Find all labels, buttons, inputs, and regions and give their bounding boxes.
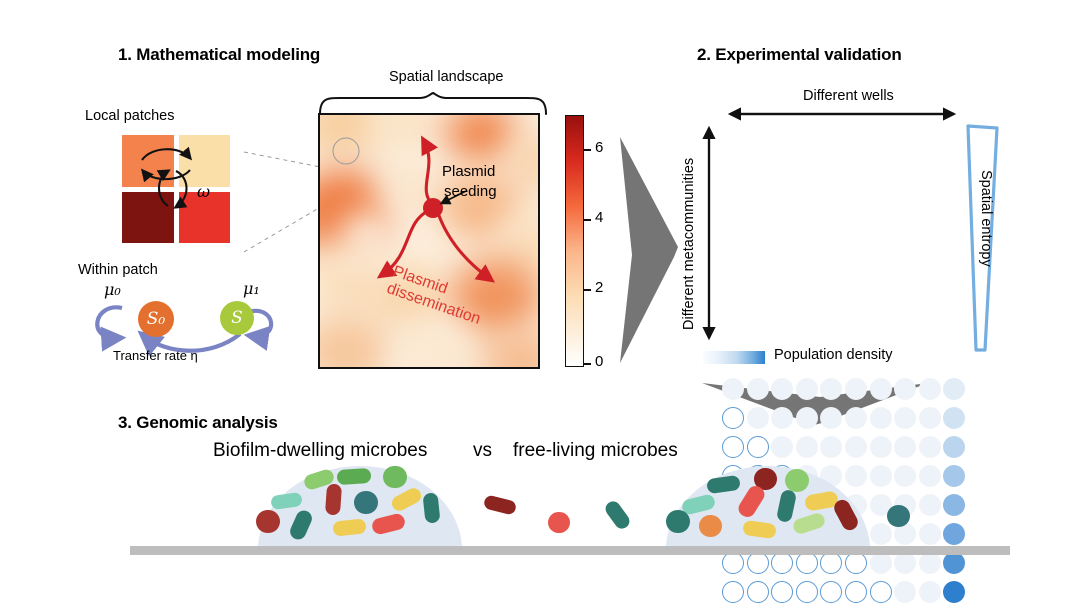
well[interactable] (796, 552, 818, 574)
colorbar-tick-label-2: 2 (595, 279, 603, 296)
well[interactable] (722, 581, 744, 603)
biofilm-right-microbes (666, 466, 870, 550)
population-density-colorbar (703, 351, 765, 364)
well[interactable] (845, 552, 867, 574)
well[interactable] (845, 378, 867, 400)
well[interactable] (919, 436, 941, 458)
panel2-title: 2. Experimental validation (697, 45, 902, 65)
well[interactable] (943, 407, 965, 429)
well[interactable] (870, 436, 892, 458)
microbe-cell (785, 469, 809, 492)
well[interactable] (820, 436, 842, 458)
microbe-cell (483, 494, 517, 515)
panel3-caption-right: free-living microbes (513, 440, 678, 462)
node-s0-label: S₀ (147, 309, 165, 329)
microbe-cell (706, 475, 741, 494)
spatial-entropy-label: Spatial entropy (978, 170, 994, 267)
different-metacommunities-axis-arrow (702, 120, 716, 346)
spatial-landscape-heatmap: Plasmid seeding Plasmid dissemination (318, 113, 540, 369)
well[interactable] (747, 407, 769, 429)
well[interactable] (870, 552, 892, 574)
well[interactable] (771, 552, 793, 574)
well[interactable] (820, 552, 842, 574)
well[interactable] (894, 407, 916, 429)
microbe-cell (333, 518, 367, 536)
patch-exchange-arrows (112, 130, 242, 260)
panel3-caption-vs: vs (473, 440, 492, 462)
mu0-symbol-label: μ₀ (104, 280, 121, 299)
well[interactable] (771, 378, 793, 400)
microbe-cell (354, 491, 378, 514)
well[interactable] (747, 552, 769, 574)
well[interactable] (722, 436, 744, 458)
well[interactable] (894, 523, 916, 545)
microbe-cell (666, 510, 690, 533)
well[interactable] (820, 407, 842, 429)
well[interactable] (943, 552, 965, 574)
different-wells-axis-arrow (722, 107, 962, 121)
biofilm-left-microbes (258, 466, 462, 550)
well[interactable] (796, 378, 818, 400)
well[interactable] (747, 378, 769, 400)
well[interactable] (919, 552, 941, 574)
local-patches-label: Local patches (85, 108, 174, 124)
well[interactable] (771, 436, 793, 458)
well[interactable] (820, 581, 842, 603)
well[interactable] (870, 494, 892, 516)
microbe-cell (422, 492, 440, 523)
well[interactable] (870, 378, 892, 400)
microbe-cell (287, 508, 314, 542)
well[interactable] (722, 378, 744, 400)
transfer-rate-label: Transfer rate η (113, 348, 198, 363)
well[interactable] (747, 436, 769, 458)
well[interactable] (943, 436, 965, 458)
omega-symbol-label: ω (197, 182, 210, 201)
node-s: S (220, 301, 254, 335)
spatial-landscape-label: Spatial landscape (389, 69, 503, 85)
well[interactable] (870, 523, 892, 545)
well[interactable] (919, 494, 941, 516)
well[interactable] (943, 465, 965, 487)
plasmid-seeding-label-line1: Plasmid (442, 163, 495, 180)
microbe-cell (831, 497, 860, 533)
node-s0: S₀ (138, 301, 174, 337)
well[interactable] (919, 581, 941, 603)
well[interactable] (919, 407, 941, 429)
well[interactable] (894, 581, 916, 603)
panel3-caption-left: Biofilm-dwelling microbes (213, 440, 427, 462)
well[interactable] (919, 465, 941, 487)
well[interactable] (845, 436, 867, 458)
microbe-cell (603, 498, 633, 531)
microbe-cell (325, 484, 342, 516)
different-wells-label: Different wells (803, 88, 894, 104)
colorbar-tick-label-6: 6 (595, 139, 603, 156)
well[interactable] (894, 494, 916, 516)
microbe-cell (383, 466, 407, 488)
microbe-cell (776, 489, 797, 523)
mu1-symbol-label: μ₁ (243, 279, 260, 298)
colorbar-ticks: 6 4 2 0 (565, 115, 625, 367)
panel1-title: 1. Mathematical modeling (118, 45, 320, 65)
well[interactable] (919, 378, 941, 400)
microbe-cell (336, 468, 371, 485)
microbe-cell (256, 510, 280, 533)
well[interactable] (919, 523, 941, 545)
substrate-surface (130, 546, 1010, 555)
well[interactable] (845, 581, 867, 603)
well[interactable] (747, 581, 769, 603)
well[interactable] (796, 436, 818, 458)
population-density-label: Population density (774, 347, 893, 363)
colorbar-tick-label-0: 0 (595, 353, 603, 370)
arrow-to-experimental-validation (618, 135, 682, 365)
well[interactable] (943, 378, 965, 400)
well[interactable] (820, 378, 842, 400)
well[interactable] (771, 581, 793, 603)
colorbar-tick-label-4: 4 (595, 209, 603, 226)
within-patch-label: Within patch (78, 262, 158, 278)
node-s-label: S (231, 308, 243, 328)
well[interactable] (796, 581, 818, 603)
well[interactable] (943, 581, 965, 603)
microbe-cell (270, 492, 303, 510)
microbe-cell (791, 511, 826, 535)
well[interactable] (870, 581, 892, 603)
well[interactable] (894, 465, 916, 487)
well[interactable] (722, 407, 744, 429)
well[interactable] (943, 494, 965, 516)
well[interactable] (845, 407, 867, 429)
plasmid-seeding-label-line2: seeding (444, 183, 497, 200)
well[interactable] (943, 523, 965, 545)
microbe-cell (699, 515, 722, 537)
microbe-cell (390, 486, 424, 514)
panel3-title: 3. Genomic analysis (118, 413, 278, 433)
well[interactable] (796, 407, 818, 429)
well[interactable] (894, 378, 916, 400)
well[interactable] (870, 407, 892, 429)
microbe-cell (548, 512, 570, 533)
well[interactable] (894, 436, 916, 458)
well[interactable] (870, 465, 892, 487)
well[interactable] (894, 552, 916, 574)
different-metacommunities-label: Different metacommunities (681, 158, 697, 330)
well[interactable] (722, 552, 744, 574)
microbe-cell (742, 520, 777, 539)
microbe-cell (371, 512, 407, 536)
well[interactable] (771, 407, 793, 429)
